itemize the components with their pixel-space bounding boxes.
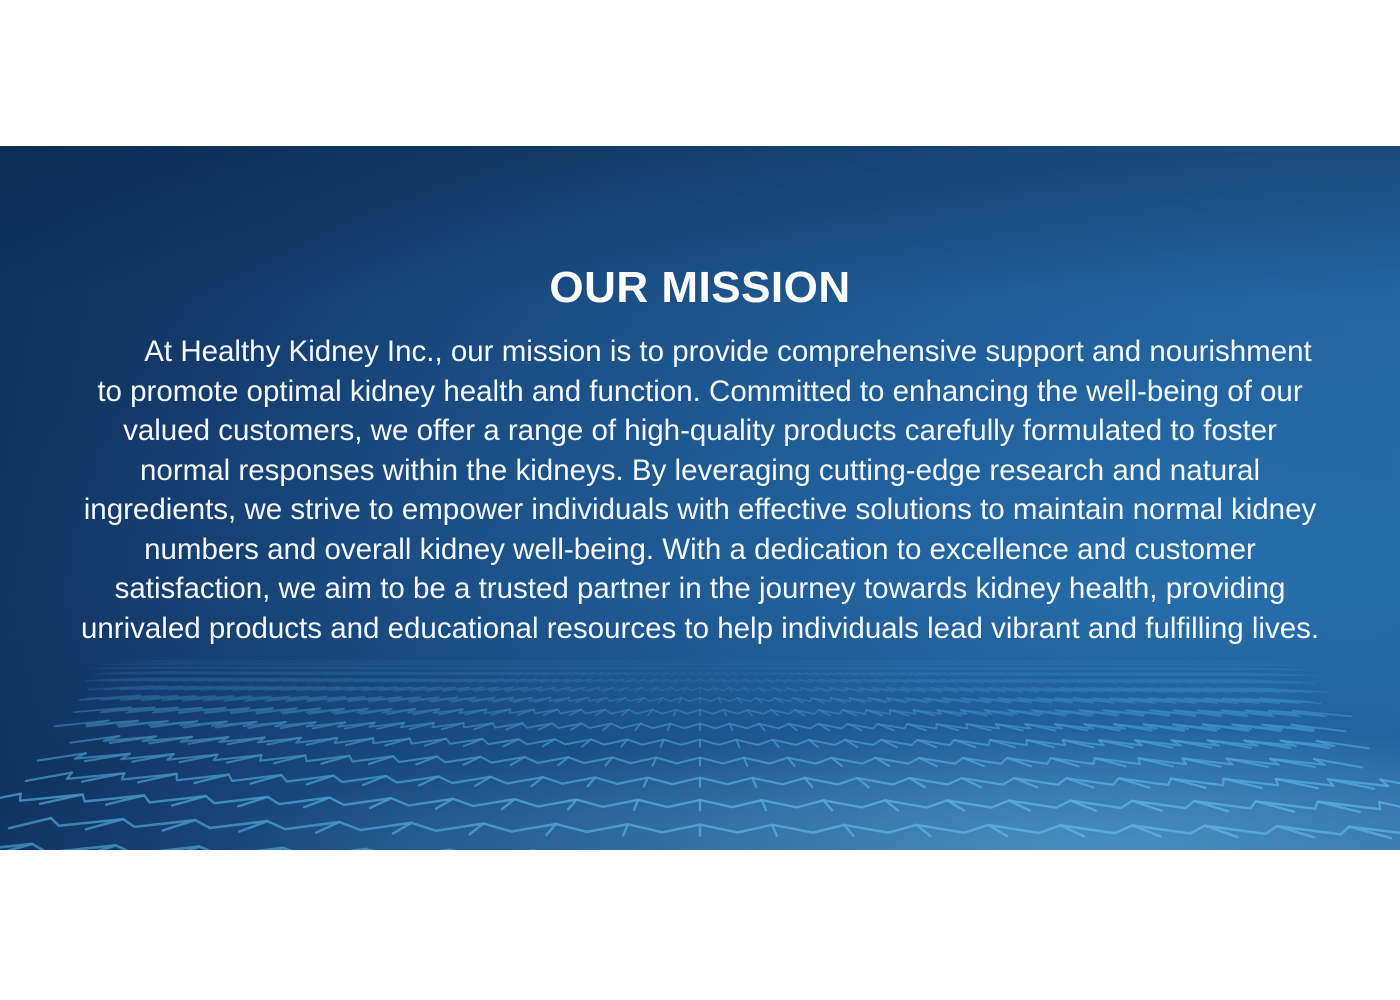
slide-canvas: OUR MISSION At Healthy Kidney Inc., our … (0, 0, 1400, 1000)
page-title: OUR MISSION (549, 266, 850, 310)
mission-hero-band: OUR MISSION At Healthy Kidney Inc., our … (0, 146, 1400, 850)
mission-content: OUR MISSION At Healthy Kidney Inc., our … (0, 146, 1400, 850)
mission-statement-text: At Healthy Kidney Inc., our mission is t… (77, 332, 1323, 648)
